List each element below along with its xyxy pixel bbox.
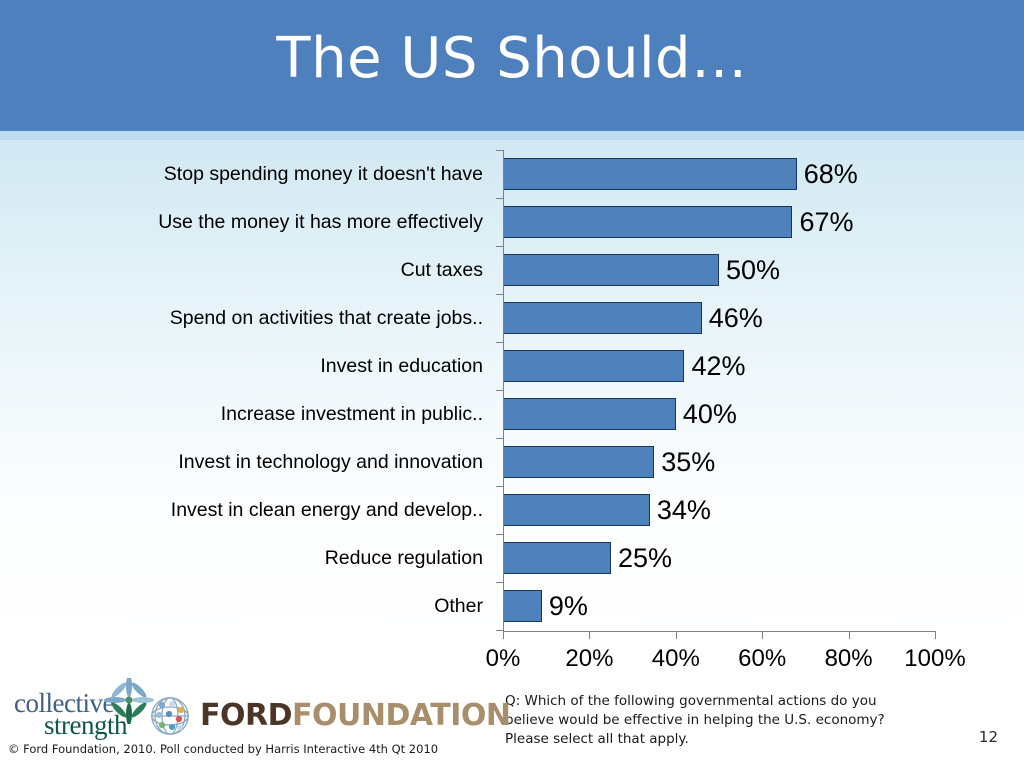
foundation-word: FOUNDATION (292, 698, 511, 733)
category-label: Invest in clean energy and develop.. (0, 486, 483, 534)
bar-value-label: 50% (719, 254, 780, 286)
bar (503, 446, 654, 478)
y-axis-tick (496, 198, 504, 199)
bar-track: 67% (503, 198, 935, 246)
bar-track: 42% (503, 342, 935, 390)
x-axis-tick (676, 631, 677, 639)
page-title: The US Should… (0, 24, 1024, 94)
bar-value-label: 9% (542, 590, 588, 622)
y-axis-tick (496, 582, 504, 583)
x-axis-tick-label: 0% (486, 645, 521, 673)
category-label: Increase investment in public.. (0, 390, 483, 438)
x-axis-tick (935, 631, 936, 639)
bar-track: 25% (503, 534, 935, 582)
ford-foundation-wordmark: FORDFOUNDATION (200, 698, 511, 733)
bar-value-label: 42% (684, 350, 745, 382)
y-axis-tick (496, 438, 504, 439)
bar-track: 68% (503, 150, 935, 198)
bar-track: 46% (503, 294, 935, 342)
bar-track: 40% (503, 390, 935, 438)
category-label: Other (0, 582, 483, 630)
bar (503, 206, 792, 238)
chart-row: Other9% (0, 582, 1000, 630)
bar-value-label: 25% (611, 542, 672, 574)
x-axis-tick-label: 40% (652, 645, 700, 673)
question-text: Q: Which of the following governmental a… (505, 692, 910, 749)
bar (503, 494, 650, 526)
category-label: Invest in education (0, 342, 483, 390)
y-axis-tick (496, 390, 504, 391)
chart-row: Cut taxes50% (0, 246, 1000, 294)
bar-value-label: 35% (654, 446, 715, 478)
bar (503, 398, 676, 430)
y-axis-tick (496, 294, 504, 295)
chart-row: Reduce regulation25% (0, 534, 1000, 582)
bar (503, 542, 611, 574)
y-axis-tick (496, 246, 504, 247)
category-label: Stop spending money it doesn't have (0, 150, 483, 198)
chart-row: Invest in education42% (0, 342, 1000, 390)
x-axis-tick (762, 631, 763, 639)
banner-accent-strip (0, 131, 1024, 140)
category-label: Cut taxes (0, 246, 483, 294)
bar-value-label: 40% (676, 398, 737, 430)
bar (503, 302, 702, 334)
x-axis-tick (849, 631, 850, 639)
x-axis-tick-label: 20% (565, 645, 613, 673)
bar (503, 590, 542, 622)
slide: The US Should… Stop spending money it do… (0, 0, 1024, 768)
chart-row: Stop spending money it doesn't have68% (0, 150, 1000, 198)
y-axis-tick (496, 342, 504, 343)
category-label: Reduce regulation (0, 534, 483, 582)
collective-strength-logo: collective strength (14, 686, 149, 742)
chart-row: Spend on activities that create jobs..46… (0, 294, 1000, 342)
starburst-icon (104, 678, 154, 724)
category-label: Invest in technology and innovation (0, 438, 483, 486)
chart-row: Invest in clean energy and develop..34% (0, 486, 1000, 534)
bar-value-label: 46% (702, 302, 763, 334)
page-number: 12 (979, 728, 998, 746)
bar-value-label: 67% (792, 206, 853, 238)
bar (503, 350, 684, 382)
category-label: Use the money it has more effectively (0, 198, 483, 246)
bar-track: 9% (503, 582, 935, 630)
globe-dots-icon (150, 696, 190, 736)
chart-row: Use the money it has more effectively67% (0, 198, 1000, 246)
x-axis-line (503, 631, 936, 632)
bar (503, 254, 719, 286)
bar-value-label: 34% (650, 494, 711, 526)
copyright-text: © Ford Foundation, 2010. Poll conducted … (8, 742, 438, 756)
chart-row: Invest in technology and innovation35% (0, 438, 1000, 486)
x-axis-tick (503, 631, 504, 639)
bar (503, 158, 797, 190)
x-axis-tick-label: 60% (738, 645, 786, 673)
x-axis-tick (589, 631, 590, 639)
bar-value-label: 68% (797, 158, 858, 190)
y-axis-tick (496, 486, 504, 487)
bar-track: 34% (503, 486, 935, 534)
category-label: Spend on activities that create jobs.. (0, 294, 483, 342)
x-axis-tick-label: 80% (825, 645, 873, 673)
x-axis-tick-label: 100% (904, 645, 965, 673)
y-axis-tick (496, 150, 504, 151)
y-axis-tick (496, 534, 504, 535)
ford-word: FORD (200, 698, 292, 733)
bar-track: 35% (503, 438, 935, 486)
bar-chart: Stop spending money it doesn't have68%Us… (0, 150, 1000, 650)
bar-track: 50% (503, 246, 935, 294)
chart-row: Increase investment in public..40% (0, 390, 1000, 438)
